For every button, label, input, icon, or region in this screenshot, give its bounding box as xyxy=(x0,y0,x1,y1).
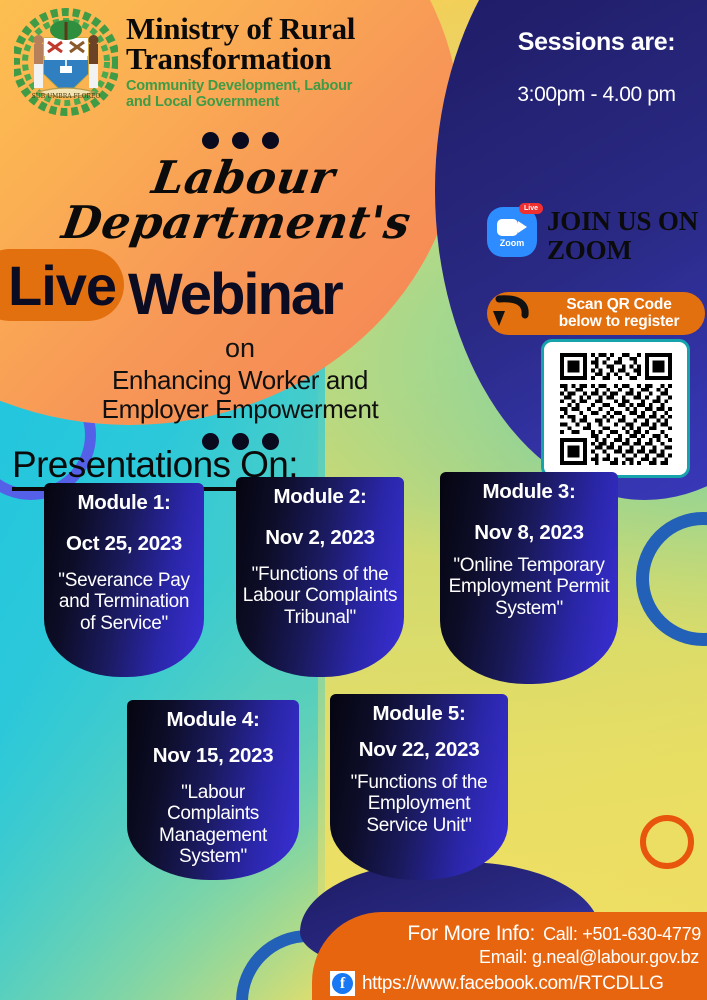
module-date: Oct 25, 2023 xyxy=(50,532,198,556)
join-zoom-block[interactable]: Zoom Live JOIN US ON ZOOM xyxy=(487,207,707,265)
zoom-logo-icon: Zoom Live xyxy=(487,207,539,259)
sessions-label: Sessions are: xyxy=(486,28,707,57)
live-webinar-lockup: Live Webinar xyxy=(0,243,480,327)
module-topic: "Severance Pay and Termination of Servic… xyxy=(50,570,198,634)
module-topic: "Functions of the Employment Service Uni… xyxy=(336,772,502,836)
module-title: Module 2: xyxy=(242,485,398,509)
on-word: on xyxy=(0,333,480,364)
zoom-logo-word: Zoom xyxy=(500,238,525,248)
qr-code-card[interactable] xyxy=(541,339,690,478)
ministry-text-block: Ministry of Rural Transformation Communi… xyxy=(126,8,355,111)
module-title: Module 4: xyxy=(133,708,293,732)
video-camera-icon xyxy=(497,219,527,236)
belize-coat-of-arms-icon: SUB UMBRA FLOREO xyxy=(14,8,118,116)
module-title: Module 1: xyxy=(50,491,198,515)
poster-canvas: SUB UMBRA FLOREO Ministry of Rural Trans… xyxy=(0,0,707,1000)
email-address[interactable]: Email: g.neal@labour.gov.bz xyxy=(330,947,701,968)
module-date: Nov 2, 2023 xyxy=(242,526,398,550)
ministry-title-line1: Ministry of Rural xyxy=(126,14,355,44)
ministry-subtitle: Community Development, Labour and Local … xyxy=(126,78,355,110)
footer-row-facebook[interactable]: f https://www.facebook.com/RTCDLLG xyxy=(330,971,701,996)
module-card: Module 3: Nov 8, 2023 "Online Temporary … xyxy=(440,472,618,684)
module-card: Module 5: Nov 22, 2023 "Functions of the… xyxy=(330,694,508,880)
more-info-label: For More Info: xyxy=(407,922,535,946)
curved-arrow-icon xyxy=(491,295,535,333)
join-zoom-line2: ZOOM xyxy=(547,236,698,265)
module-date: Nov 8, 2023 xyxy=(446,521,612,545)
module-title: Module 3: xyxy=(446,480,612,504)
phone-number: Call: +501-630-4779 xyxy=(543,924,701,945)
live-word: Live xyxy=(8,253,116,318)
scan-qr-text: Scan QR Code below to register xyxy=(533,297,705,330)
dot xyxy=(232,132,249,149)
facebook-url[interactable]: https://www.facebook.com/RTCDLLG xyxy=(362,973,664,995)
title-block: Labour Department's Live Webinar on Enha… xyxy=(0,128,480,450)
module-card: Module 1: Oct 25, 2023 "Severance Pay an… xyxy=(44,483,204,677)
decorative-dots-top xyxy=(0,132,480,149)
dot xyxy=(262,132,279,149)
module-date: Nov 22, 2023 xyxy=(336,738,502,762)
svg-text:SUB UMBRA FLOREO: SUB UMBRA FLOREO xyxy=(32,93,101,100)
sessions-time: 3:00pm - 4.00 pm xyxy=(486,83,707,107)
qr-code-icon[interactable] xyxy=(557,353,675,465)
ministry-header: SUB UMBRA FLOREO Ministry of Rural Trans… xyxy=(0,0,470,130)
module-card: Module 4: Nov 15, 2023 "Labour Complaint… xyxy=(127,700,299,880)
script-title: Labour Department's xyxy=(0,155,487,245)
scan-line2: below to register xyxy=(533,314,705,331)
sessions-block: Sessions are: 3:00pm - 4.00 pm xyxy=(486,28,707,107)
module-card: Module 2: Nov 2, 2023 "Functions of the … xyxy=(236,477,404,677)
ministry-title: Ministry of Rural Transformation xyxy=(126,14,355,74)
footer-row-call: For More Info: Call: +501-630-4779 xyxy=(330,922,701,946)
live-badge: Live xyxy=(519,203,543,214)
module-topic: "Online Temporary Employment Permit Syst… xyxy=(446,555,612,619)
decorative-orange-ring-small xyxy=(640,815,694,869)
ministry-title-line2: Transformation xyxy=(126,44,355,74)
join-zoom-text: JOIN US ON ZOOM xyxy=(547,207,698,265)
module-topic: "Labour Complaints Management System" xyxy=(133,782,293,868)
scan-line1: Scan QR Code xyxy=(533,297,705,314)
contact-footer: For More Info: Call: +501-630-4779 Email… xyxy=(312,912,707,1000)
facebook-icon: f xyxy=(330,971,355,996)
topic-lines: Enhancing Worker and Employer Empowermen… xyxy=(0,366,480,423)
scan-qr-banner: Scan QR Code below to register xyxy=(487,292,705,335)
module-date: Nov 15, 2023 xyxy=(133,744,293,768)
module-title: Module 5: xyxy=(336,702,502,726)
ministry-subtitle-line2: and Local Government xyxy=(126,94,355,110)
ministry-subtitle-line1: Community Development, Labour xyxy=(126,78,355,94)
module-topic: "Functions of the Labour Complaints Trib… xyxy=(242,564,398,628)
webinar-word: Webinar xyxy=(128,261,342,328)
join-zoom-line1: JOIN US ON xyxy=(547,207,698,236)
topic-line2: Employer Empowerment xyxy=(0,395,480,424)
dot xyxy=(202,132,219,149)
topic-line1: Enhancing Worker and xyxy=(0,366,480,395)
